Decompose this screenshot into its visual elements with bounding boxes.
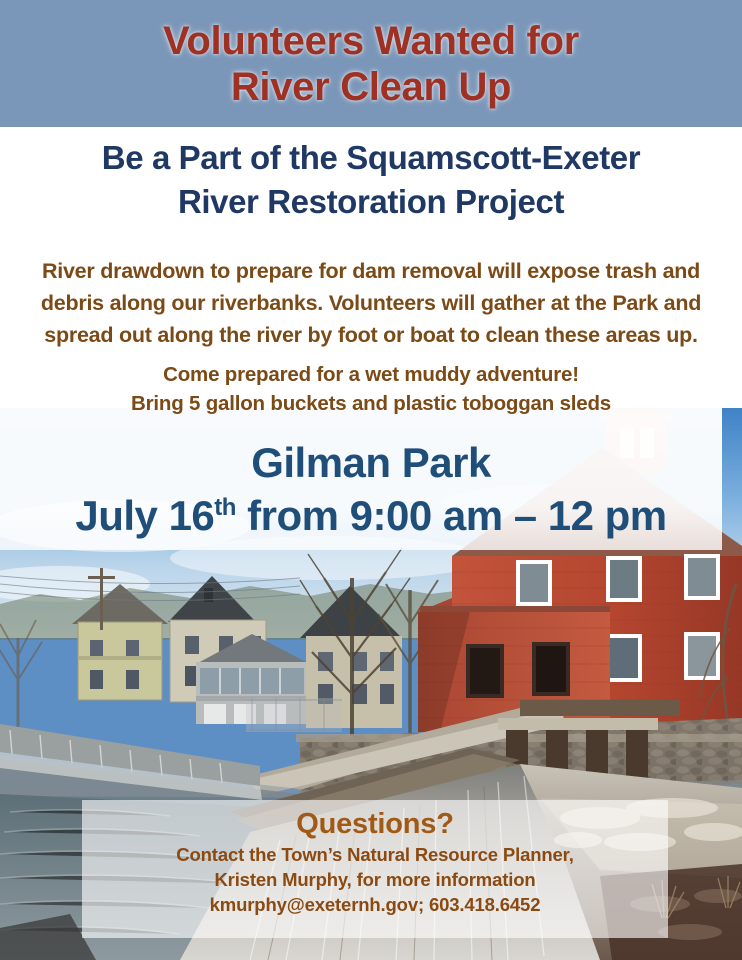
- contact-line-1: Contact the Town’s Natural Resource Plan…: [82, 842, 668, 867]
- poster-title-line1: Volunteers Wanted for: [163, 18, 579, 64]
- event-date-prefix: July 16: [75, 492, 214, 539]
- event-date-ordinal: th: [214, 494, 236, 521]
- prep-line1: Come prepared for a wet muddy adventure!: [32, 360, 710, 389]
- subheading-line1: Be a Part of the Squamscott-Exeter: [0, 136, 742, 180]
- poster: Volunteers Wanted for River Clean Up Be …: [0, 0, 742, 960]
- poster-subheading: Be a Part of the Squamscott-Exeter River…: [0, 136, 742, 224]
- contact-box: Questions? Contact the Town’s Natural Re…: [82, 800, 668, 938]
- questions-heading: Questions?: [82, 806, 668, 842]
- event-datetime: July 16th from 9:00 am – 12 pm: [0, 489, 742, 543]
- contact-email-phone[interactable]: kmurphy@exeternh.gov; 603.418.6452: [82, 892, 668, 917]
- event-time: from 9:00 am – 12 pm: [236, 492, 667, 539]
- preparation-note: Come prepared for a wet muddy adventure!…: [32, 360, 710, 418]
- event-venue: Gilman Park: [0, 438, 742, 488]
- poster-title-line2: River Clean Up: [231, 64, 511, 110]
- body-paragraph: River drawdown to prepare for dam remova…: [32, 255, 710, 351]
- subheading-line2: River Restoration Project: [0, 180, 742, 224]
- contact-line-2: Kristen Murphy, for more information: [82, 867, 668, 892]
- header-banner: Volunteers Wanted for River Clean Up: [0, 0, 742, 127]
- prep-line2: Bring 5 gallon buckets and plastic tobog…: [32, 389, 710, 418]
